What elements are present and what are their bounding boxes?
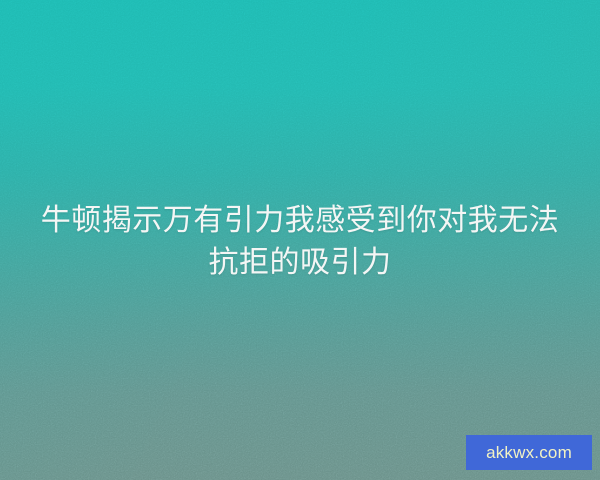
image-canvas: 牛顿揭示万有引力我感受到你对我无法抗拒的吸引力 akkwx.com: [0, 0, 600, 480]
caption-text: 牛顿揭示万有引力我感受到你对我无法抗拒的吸引力: [0, 200, 600, 284]
watermark-badge: akkwx.com: [466, 435, 592, 470]
